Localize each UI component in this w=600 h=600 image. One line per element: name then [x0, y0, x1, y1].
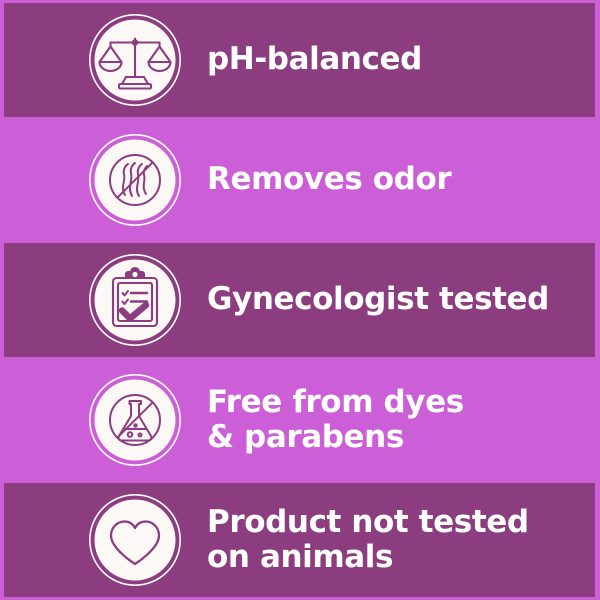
feature-row: Product not tested on animals	[0, 480, 600, 600]
feature-row: Gynecologist tested	[0, 240, 600, 360]
feature-label: Free from dyes & parabens	[207, 385, 464, 456]
clipboard-check-icon	[88, 253, 182, 347]
no-odor-icon	[88, 133, 182, 227]
feature-row: Removes odor	[0, 120, 600, 240]
feature-label: Product not tested on animals	[207, 505, 529, 576]
feature-list: pH-balanced Rem	[0, 0, 600, 600]
feature-label: pH-balanced	[207, 42, 422, 77]
feature-label: Removes odor	[207, 162, 451, 197]
balance-scale-icon	[88, 13, 182, 107]
feature-row: pH-balanced	[0, 0, 600, 120]
no-chemical-flask-icon	[88, 373, 182, 467]
feature-row: Free from dyes & parabens	[0, 360, 600, 480]
heart-icon	[88, 493, 182, 587]
feature-label: Gynecologist tested	[207, 282, 549, 317]
